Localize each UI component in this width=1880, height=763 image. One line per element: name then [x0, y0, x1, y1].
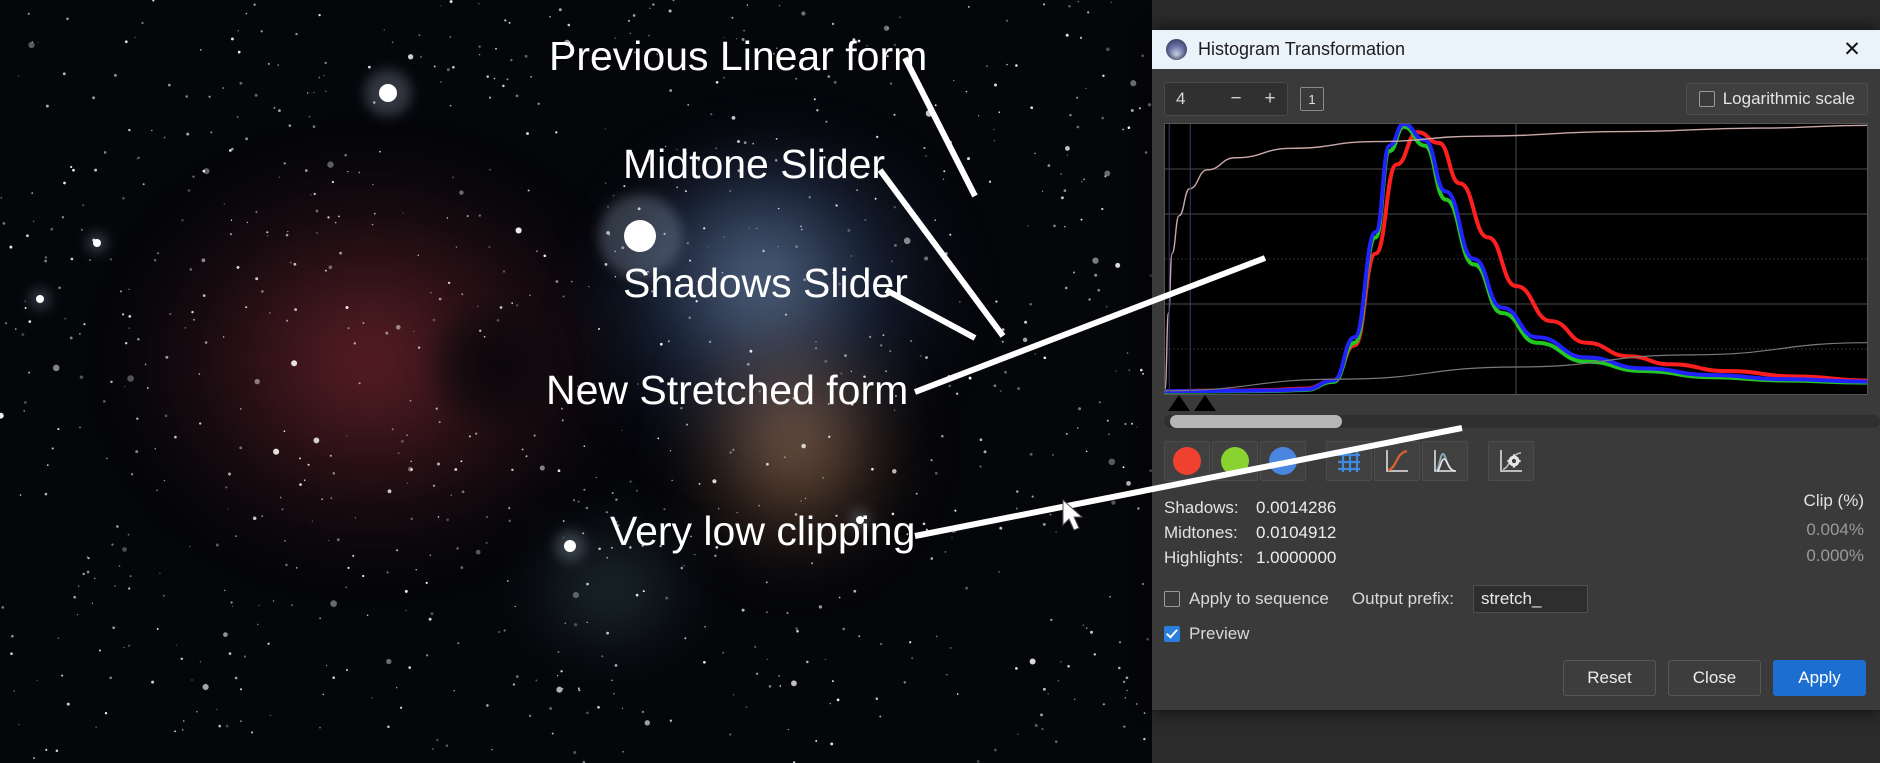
close-icon[interactable]: ✕ [1826, 30, 1878, 69]
zoom-spinner[interactable]: 4 − + [1164, 82, 1288, 116]
apply-to-sequence-row: Apply to sequence Output prefix: [1164, 584, 1868, 614]
histogram-plot[interactable] [1164, 123, 1868, 395]
values-area: Shadows: 0.0014286 Midtones: 0.0104912 H… [1164, 495, 1868, 570]
blue-circle-icon [1269, 447, 1297, 475]
reset-button[interactable]: Reset [1563, 660, 1656, 696]
midtones-slider-handle[interactable] [1194, 395, 1216, 411]
apply-to-sequence-label: Apply to sequence [1189, 589, 1329, 609]
shadow-clip-value: 0.004% [1804, 517, 1864, 543]
preview-row: Preview [1164, 619, 1868, 649]
output-prefix-input[interactable] [1473, 585, 1588, 613]
histogram-slider-strip [1164, 395, 1868, 429]
highlights-value-row: Highlights: 1.0000000 [1164, 545, 1868, 570]
histogram-display-button[interactable] [1422, 441, 1468, 481]
checkbox-box [1699, 91, 1715, 107]
starfield [0, 0, 1152, 763]
histogram-chart [1165, 124, 1867, 394]
midtones-label: Midtones: [1164, 523, 1256, 543]
auto-stretch-button[interactable] [1488, 441, 1534, 481]
grid-toggle-button[interactable] [1326, 441, 1372, 481]
blue-channel-toggle[interactable] [1260, 441, 1306, 481]
curve-icon [1384, 448, 1410, 474]
shadows-slider-handle[interactable] [1168, 395, 1190, 411]
highlight-clip-value: 0.000% [1804, 543, 1864, 569]
clip-title: Clip (%) [1804, 491, 1864, 511]
logarithmic-scale-label: Logarithmic scale [1723, 89, 1855, 109]
histogram-curve-icon [1432, 448, 1458, 474]
curve-display-button[interactable] [1374, 441, 1420, 481]
options-area: Apply to sequence Output prefix: Preview [1164, 584, 1868, 649]
shadows-label: Shadows: [1164, 498, 1256, 518]
zoom-reset-button[interactable]: 1 [1300, 87, 1324, 111]
histogram-app-icon [1166, 39, 1187, 60]
shadows-value-row: Shadows: 0.0014286 [1164, 495, 1868, 520]
astro-image-canvas [0, 0, 1152, 763]
auto-stretch-gear-icon [1498, 448, 1524, 474]
close-button[interactable]: Close [1668, 660, 1761, 696]
green-channel-toggle[interactable] [1212, 441, 1258, 481]
histogram-scrollbar-thumb[interactable] [1170, 415, 1342, 428]
logarithmic-scale-checkbox[interactable]: Logarithmic scale [1686, 83, 1868, 115]
preview-label: Preview [1189, 624, 1249, 644]
clip-area: Clip (%) 0.004% 0.000% [1804, 491, 1864, 569]
channel-toolbar [1164, 441, 1868, 481]
output-prefix-label: Output prefix: [1352, 589, 1454, 609]
zoom-decrease-button[interactable]: − [1219, 84, 1253, 114]
dialog-footer: Reset Close Apply [1563, 660, 1866, 696]
dialog-titlebar[interactable]: Histogram Transformation ✕ [1152, 30, 1880, 69]
red-channel-toggle[interactable] [1164, 441, 1210, 481]
midtones-value[interactable]: 0.0104912 [1256, 523, 1336, 543]
midtones-value-row: Midtones: 0.0104912 [1164, 520, 1868, 545]
zoom-level-value[interactable]: 4 [1165, 89, 1219, 109]
zoom-toolbar: 4 − + 1 Logarithmic scale [1164, 79, 1868, 119]
green-circle-icon [1221, 447, 1249, 475]
preview-checkbox[interactable] [1164, 626, 1180, 642]
histogram-transformation-dialog: Histogram Transformation ✕ 4 − + 1 Logar… [1152, 30, 1880, 710]
chart-gridlines [1165, 124, 1867, 394]
highlights-value[interactable]: 1.0000000 [1256, 548, 1336, 568]
dialog-body: 4 − + 1 Logarithmic scale [1152, 79, 1880, 649]
red-circle-icon [1173, 447, 1201, 475]
zoom-increase-button[interactable]: + [1253, 84, 1287, 114]
shadows-value[interactable]: 0.0014286 [1256, 498, 1336, 518]
highlights-label: Highlights: [1164, 548, 1256, 568]
apply-button[interactable]: Apply [1773, 660, 1866, 696]
dialog-title: Histogram Transformation [1198, 39, 1826, 60]
grid-icon [1336, 448, 1362, 474]
apply-to-sequence-checkbox[interactable] [1164, 591, 1180, 607]
